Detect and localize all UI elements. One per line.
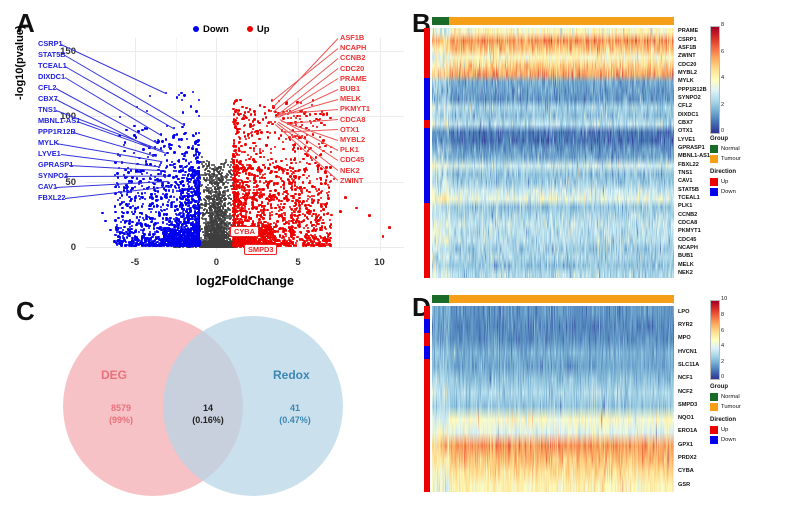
volcano-point bbox=[208, 200, 210, 202]
volcano-point bbox=[186, 165, 188, 167]
volcano-point bbox=[217, 187, 219, 189]
volcano-point bbox=[145, 218, 147, 220]
volcano-point bbox=[203, 222, 205, 224]
volcano-point bbox=[113, 241, 115, 243]
volcano-point bbox=[192, 148, 194, 150]
volcano-gridline-v bbox=[380, 38, 381, 251]
volcano-point bbox=[183, 155, 185, 157]
volcano-point bbox=[114, 219, 116, 221]
volcano-point bbox=[203, 209, 205, 211]
volcano-point bbox=[190, 201, 192, 203]
volcano-point bbox=[167, 205, 169, 207]
volcano-point bbox=[192, 91, 194, 93]
volcano-point bbox=[114, 211, 116, 213]
volcano-point bbox=[127, 171, 129, 173]
volcano-point bbox=[184, 171, 186, 173]
volcano-point bbox=[164, 145, 166, 147]
volcano-point bbox=[222, 216, 224, 218]
volcano-point bbox=[212, 168, 214, 170]
volcano-point bbox=[138, 219, 140, 221]
volcano-point bbox=[206, 179, 208, 181]
volcano-point bbox=[202, 165, 204, 167]
volcano-point bbox=[149, 95, 151, 97]
volcano-point bbox=[186, 138, 188, 140]
volcano-point bbox=[162, 221, 164, 223]
volcano-point bbox=[144, 127, 146, 129]
volcano-point bbox=[148, 227, 150, 229]
legend-label-up: Up bbox=[257, 24, 270, 35]
volcano-point bbox=[223, 195, 225, 197]
volcano-point bbox=[125, 129, 127, 131]
volcano-point bbox=[135, 195, 137, 197]
volcano-point bbox=[139, 222, 141, 224]
volcano-point bbox=[176, 96, 178, 98]
volcano-point bbox=[198, 115, 200, 117]
volcano-point bbox=[137, 192, 139, 194]
volcano-point bbox=[187, 174, 189, 176]
volcano-point bbox=[121, 207, 123, 209]
volcano-point bbox=[121, 194, 123, 196]
volcano-point bbox=[227, 207, 229, 209]
volcano-point bbox=[130, 198, 132, 200]
volcano-point bbox=[139, 242, 141, 244]
volcano-y-tick: 0 bbox=[36, 242, 76, 253]
volcano-point bbox=[197, 170, 199, 172]
volcano-point bbox=[150, 178, 152, 180]
legend-item-down: Down bbox=[193, 24, 229, 35]
volcano-point bbox=[155, 211, 157, 213]
legend-dot-up bbox=[247, 26, 253, 32]
volcano-point bbox=[198, 99, 200, 101]
volcano-point bbox=[192, 188, 194, 190]
volcano-point bbox=[202, 174, 204, 176]
volcano-point bbox=[157, 190, 159, 192]
volcano-point bbox=[135, 224, 137, 226]
volcano-point bbox=[160, 198, 162, 200]
volcano-point bbox=[166, 223, 168, 225]
volcano-point bbox=[119, 197, 121, 199]
figure-root: A Down Up -log10(pvalue) 050100150 -5051… bbox=[0, 0, 810, 512]
volcano-point bbox=[161, 140, 163, 142]
volcano-point bbox=[116, 172, 118, 174]
panel-a-volcano: A Down Up -log10(pvalue) 050100150 -5051… bbox=[8, 8, 416, 293]
volcano-point bbox=[181, 177, 183, 179]
volcano-point bbox=[121, 243, 123, 245]
volcano-point bbox=[227, 164, 229, 166]
volcano-point bbox=[192, 135, 194, 137]
volcano-point bbox=[133, 125, 135, 127]
volcano-point bbox=[162, 203, 164, 205]
volcano-point bbox=[149, 204, 151, 206]
volcano-point bbox=[151, 217, 153, 219]
volcano-point bbox=[168, 174, 170, 176]
volcano-point bbox=[146, 172, 148, 174]
volcano-point bbox=[228, 244, 230, 246]
volcano-point bbox=[223, 164, 225, 166]
volcano-point bbox=[166, 159, 168, 161]
volcano-point bbox=[184, 174, 186, 176]
volcano-point bbox=[203, 204, 205, 206]
volcano-point bbox=[165, 138, 167, 140]
volcano-point bbox=[144, 198, 146, 200]
volcano-point bbox=[206, 209, 208, 211]
volcano-point bbox=[210, 181, 212, 183]
volcano-point bbox=[123, 150, 125, 152]
volcano-point bbox=[196, 200, 198, 202]
volcano-point bbox=[222, 184, 224, 186]
volcano-point bbox=[227, 190, 229, 192]
volcano-point bbox=[230, 204, 232, 206]
volcano-point bbox=[180, 92, 182, 94]
volcano-point bbox=[185, 221, 187, 223]
volcano-point bbox=[143, 219, 145, 221]
legend-label-down: Down bbox=[203, 24, 229, 35]
volcano-point bbox=[148, 234, 150, 236]
volcano-x-tick: 0 bbox=[201, 257, 231, 268]
volcano-point bbox=[208, 164, 210, 166]
volcano-legend: Down Up bbox=[193, 24, 270, 35]
volcano-point bbox=[168, 189, 170, 191]
volcano-point bbox=[226, 179, 228, 181]
volcano-point bbox=[171, 223, 173, 225]
volcano-point bbox=[117, 217, 119, 219]
volcano-point bbox=[186, 195, 188, 197]
volcano-point bbox=[219, 197, 221, 199]
volcano-point bbox=[141, 235, 143, 237]
volcano-point bbox=[151, 208, 153, 210]
volcano-point bbox=[132, 205, 134, 207]
volcano-point bbox=[169, 164, 171, 166]
volcano-point bbox=[208, 212, 210, 214]
volcano-point bbox=[229, 215, 231, 217]
volcano-point bbox=[135, 136, 137, 138]
volcano-point bbox=[191, 169, 193, 171]
volcano-point bbox=[154, 193, 156, 195]
volcano-point bbox=[117, 235, 119, 237]
volcano-point bbox=[229, 209, 231, 211]
volcano-point bbox=[158, 211, 160, 213]
volcano-point bbox=[182, 111, 184, 113]
volcano-point bbox=[227, 182, 229, 184]
volcano-point bbox=[178, 94, 180, 96]
volcano-point bbox=[211, 241, 213, 243]
volcano-point bbox=[176, 198, 178, 200]
volcano-point bbox=[180, 215, 182, 217]
volcano-point bbox=[149, 217, 151, 219]
volcano-point bbox=[156, 231, 158, 233]
volcano-point bbox=[124, 220, 126, 222]
volcano-point bbox=[196, 190, 198, 192]
volcano-point bbox=[179, 189, 181, 191]
volcano-point bbox=[136, 177, 138, 179]
volcano-point bbox=[202, 215, 204, 217]
volcano-point bbox=[180, 138, 182, 140]
volcano-point bbox=[124, 141, 126, 143]
volcano-point bbox=[224, 223, 226, 225]
volcano-point bbox=[200, 185, 202, 187]
volcano-point bbox=[208, 161, 210, 163]
volcano-point bbox=[221, 181, 223, 183]
volcano-point bbox=[182, 169, 184, 171]
volcano-point bbox=[128, 222, 130, 224]
volcano-point bbox=[191, 218, 193, 220]
volcano-point bbox=[161, 210, 163, 212]
volcano-point bbox=[196, 173, 198, 175]
volcano-point bbox=[211, 164, 213, 166]
volcano-point bbox=[223, 166, 225, 168]
volcano-point bbox=[168, 143, 170, 145]
volcano-point bbox=[150, 193, 152, 195]
volcano-point bbox=[201, 217, 203, 219]
volcano-point bbox=[213, 173, 215, 175]
volcano-point bbox=[125, 203, 127, 205]
volcano-point bbox=[116, 224, 118, 226]
volcano-point bbox=[142, 178, 144, 180]
volcano-point bbox=[192, 145, 194, 147]
volcano-point bbox=[190, 105, 192, 107]
volcano-point bbox=[143, 228, 145, 230]
volcano-point bbox=[224, 211, 226, 213]
volcano-point bbox=[157, 222, 159, 224]
volcano-point bbox=[226, 243, 228, 245]
volcano-point bbox=[125, 231, 127, 233]
volcano-point bbox=[229, 194, 231, 196]
volcano-point bbox=[220, 163, 222, 165]
volcano-point bbox=[134, 239, 136, 241]
volcano-point bbox=[141, 192, 143, 194]
volcano-point bbox=[176, 222, 178, 224]
volcano-point bbox=[192, 223, 194, 225]
volcano-point bbox=[150, 221, 152, 223]
volcano-point bbox=[221, 233, 223, 235]
volcano-point bbox=[151, 196, 153, 198]
volcano-point bbox=[228, 170, 230, 172]
volcano-point bbox=[181, 198, 183, 200]
volcano-point bbox=[123, 226, 125, 228]
volcano-point bbox=[215, 232, 217, 234]
volcano-point bbox=[144, 192, 146, 194]
volcano-gridline-v bbox=[135, 38, 136, 251]
volcano-point bbox=[198, 185, 200, 187]
volcano-point bbox=[157, 244, 159, 246]
volcano-point bbox=[195, 148, 197, 150]
volcano-point bbox=[158, 214, 160, 216]
volcano-point bbox=[170, 206, 172, 208]
volcano-point bbox=[159, 226, 161, 228]
volcano-point bbox=[171, 201, 173, 203]
volcano-point bbox=[209, 167, 211, 169]
volcano-point bbox=[192, 177, 194, 179]
legend-dot-down bbox=[193, 26, 199, 32]
volcano-point bbox=[122, 212, 124, 214]
volcano-point bbox=[185, 159, 187, 161]
volcano-point bbox=[209, 206, 211, 208]
volcano-point bbox=[221, 172, 223, 174]
volcano-x-tick: 5 bbox=[283, 257, 313, 268]
volcano-point bbox=[165, 189, 167, 191]
volcano-point bbox=[181, 206, 183, 208]
volcano-point bbox=[141, 206, 143, 208]
volcano-point bbox=[151, 202, 153, 204]
volcano-point bbox=[165, 196, 167, 198]
volcano-point bbox=[134, 199, 136, 201]
volcano-point bbox=[132, 213, 134, 215]
volcano-point bbox=[117, 227, 119, 229]
volcano-point bbox=[227, 174, 229, 176]
volcano-point bbox=[119, 116, 121, 118]
volcano-point bbox=[224, 237, 226, 239]
volcano-point bbox=[172, 176, 174, 178]
volcano-point bbox=[144, 239, 146, 241]
volcano-point bbox=[176, 133, 178, 135]
volcano-point bbox=[167, 182, 169, 184]
volcano-point bbox=[198, 132, 200, 134]
volcano-point bbox=[201, 207, 203, 209]
volcano-point bbox=[153, 225, 155, 227]
volcano-point bbox=[126, 211, 128, 213]
volcano-point bbox=[165, 213, 167, 215]
volcano-point bbox=[120, 221, 122, 223]
volcano-point bbox=[196, 222, 198, 224]
volcano-point bbox=[183, 133, 185, 135]
volcano-point bbox=[152, 242, 154, 244]
volcano-point bbox=[190, 161, 192, 163]
volcano-point bbox=[157, 199, 159, 201]
volcano-point bbox=[220, 187, 222, 189]
volcano-point bbox=[155, 195, 157, 197]
volcano-point bbox=[118, 186, 120, 188]
volcano-point bbox=[130, 169, 132, 171]
volcano-point bbox=[188, 204, 190, 206]
volcano-point bbox=[138, 231, 140, 233]
volcano-point bbox=[187, 146, 189, 148]
volcano-point bbox=[141, 185, 143, 187]
volcano-point bbox=[123, 186, 125, 188]
volcano-point bbox=[128, 203, 130, 205]
volcano-point bbox=[141, 238, 143, 240]
volcano-point bbox=[222, 169, 224, 171]
volcano-point bbox=[223, 191, 225, 193]
volcano-point bbox=[198, 161, 200, 163]
volcano-point bbox=[121, 215, 123, 217]
volcano-point bbox=[128, 196, 130, 198]
volcano-point bbox=[131, 221, 133, 223]
volcano-point bbox=[181, 99, 183, 101]
volcano-point bbox=[220, 203, 222, 205]
volcano-point bbox=[205, 186, 207, 188]
volcano-point bbox=[176, 208, 178, 210]
volcano-point bbox=[152, 233, 154, 235]
volcano-point bbox=[181, 126, 183, 128]
volcano-y-axis-label: -log10(pvalue) bbox=[14, 25, 26, 100]
volcano-point bbox=[193, 180, 195, 182]
volcano-point bbox=[206, 243, 208, 245]
volcano-point bbox=[183, 94, 185, 96]
volcano-point bbox=[134, 186, 136, 188]
volcano-point bbox=[205, 174, 207, 176]
volcano-point bbox=[185, 151, 187, 153]
volcano-point bbox=[150, 211, 152, 213]
volcano-point bbox=[225, 159, 227, 161]
volcano-point bbox=[209, 217, 211, 219]
volcano-point bbox=[224, 187, 226, 189]
volcano-point bbox=[169, 147, 171, 149]
volcano-point bbox=[173, 196, 175, 198]
volcano-point bbox=[182, 184, 184, 186]
volcano-point bbox=[206, 177, 208, 179]
volcano-point bbox=[201, 156, 203, 158]
volcano-point bbox=[119, 232, 121, 234]
volcano-point bbox=[203, 190, 205, 192]
volcano-point bbox=[166, 208, 168, 210]
volcano-point bbox=[147, 156, 149, 158]
volcano-point bbox=[214, 205, 216, 207]
volcano-point bbox=[185, 203, 187, 205]
volcano-point bbox=[162, 184, 164, 186]
volcano-point bbox=[153, 227, 155, 229]
volcano-point bbox=[142, 148, 144, 150]
volcano-point bbox=[145, 160, 147, 162]
volcano-point bbox=[201, 228, 203, 230]
volcano-x-tick: 10 bbox=[365, 257, 395, 268]
volcano-point bbox=[195, 110, 197, 112]
volcano-x-tick: -5 bbox=[120, 257, 150, 268]
volcano-point bbox=[153, 205, 155, 207]
volcano-point bbox=[137, 206, 139, 208]
volcano-point bbox=[162, 217, 164, 219]
volcano-point bbox=[179, 146, 181, 148]
volcano-point bbox=[141, 212, 143, 214]
volcano-point bbox=[196, 140, 198, 142]
volcano-point bbox=[188, 222, 190, 224]
volcano-point bbox=[209, 176, 211, 178]
volcano-point bbox=[207, 184, 209, 186]
volcano-point bbox=[225, 234, 227, 236]
volcano-point bbox=[225, 177, 227, 179]
volcano-point bbox=[177, 178, 179, 180]
volcano-point bbox=[144, 223, 146, 225]
volcano-point bbox=[215, 235, 217, 237]
volcano-point bbox=[174, 205, 176, 207]
legend-item-up: Up bbox=[247, 24, 270, 35]
volcano-point bbox=[119, 155, 121, 157]
volcano-point bbox=[114, 205, 116, 207]
volcano-point bbox=[195, 132, 197, 134]
volcano-point bbox=[195, 153, 197, 155]
volcano-point bbox=[173, 151, 175, 153]
volcano-point bbox=[187, 190, 189, 192]
volcano-point bbox=[204, 179, 206, 181]
volcano-point bbox=[172, 191, 174, 193]
